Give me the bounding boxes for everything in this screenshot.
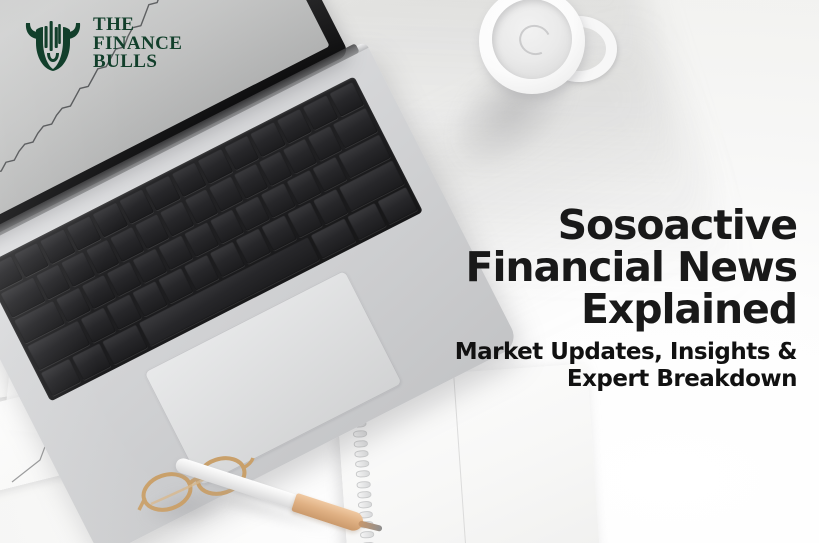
brand-wordmark: THE FINANCE BULLS [93,16,182,72]
bull-head-candlestick-icon [22,17,84,71]
page-title: Sosoactive Financial News Explained [327,205,797,330]
promo-banner: MARKET [0,0,819,543]
title-line-2: Financial News [327,247,797,289]
subtitle-line-2: Expert Breakdown [327,366,797,392]
headline-block: Sosoactive Financial News Explained Mark… [327,205,797,392]
title-line-3: Explained [327,289,797,331]
subtitle-line-1: Market Updates, Insights & [327,339,797,365]
brand-logo[interactable]: THE FINANCE BULLS [22,16,182,72]
page-subtitle: Market Updates, Insights & Expert Breakd… [327,339,797,391]
title-line-1: Sosoactive [327,205,797,247]
brand-line-3: BULLS [93,53,182,72]
brand-line-1: THE [93,16,182,35]
